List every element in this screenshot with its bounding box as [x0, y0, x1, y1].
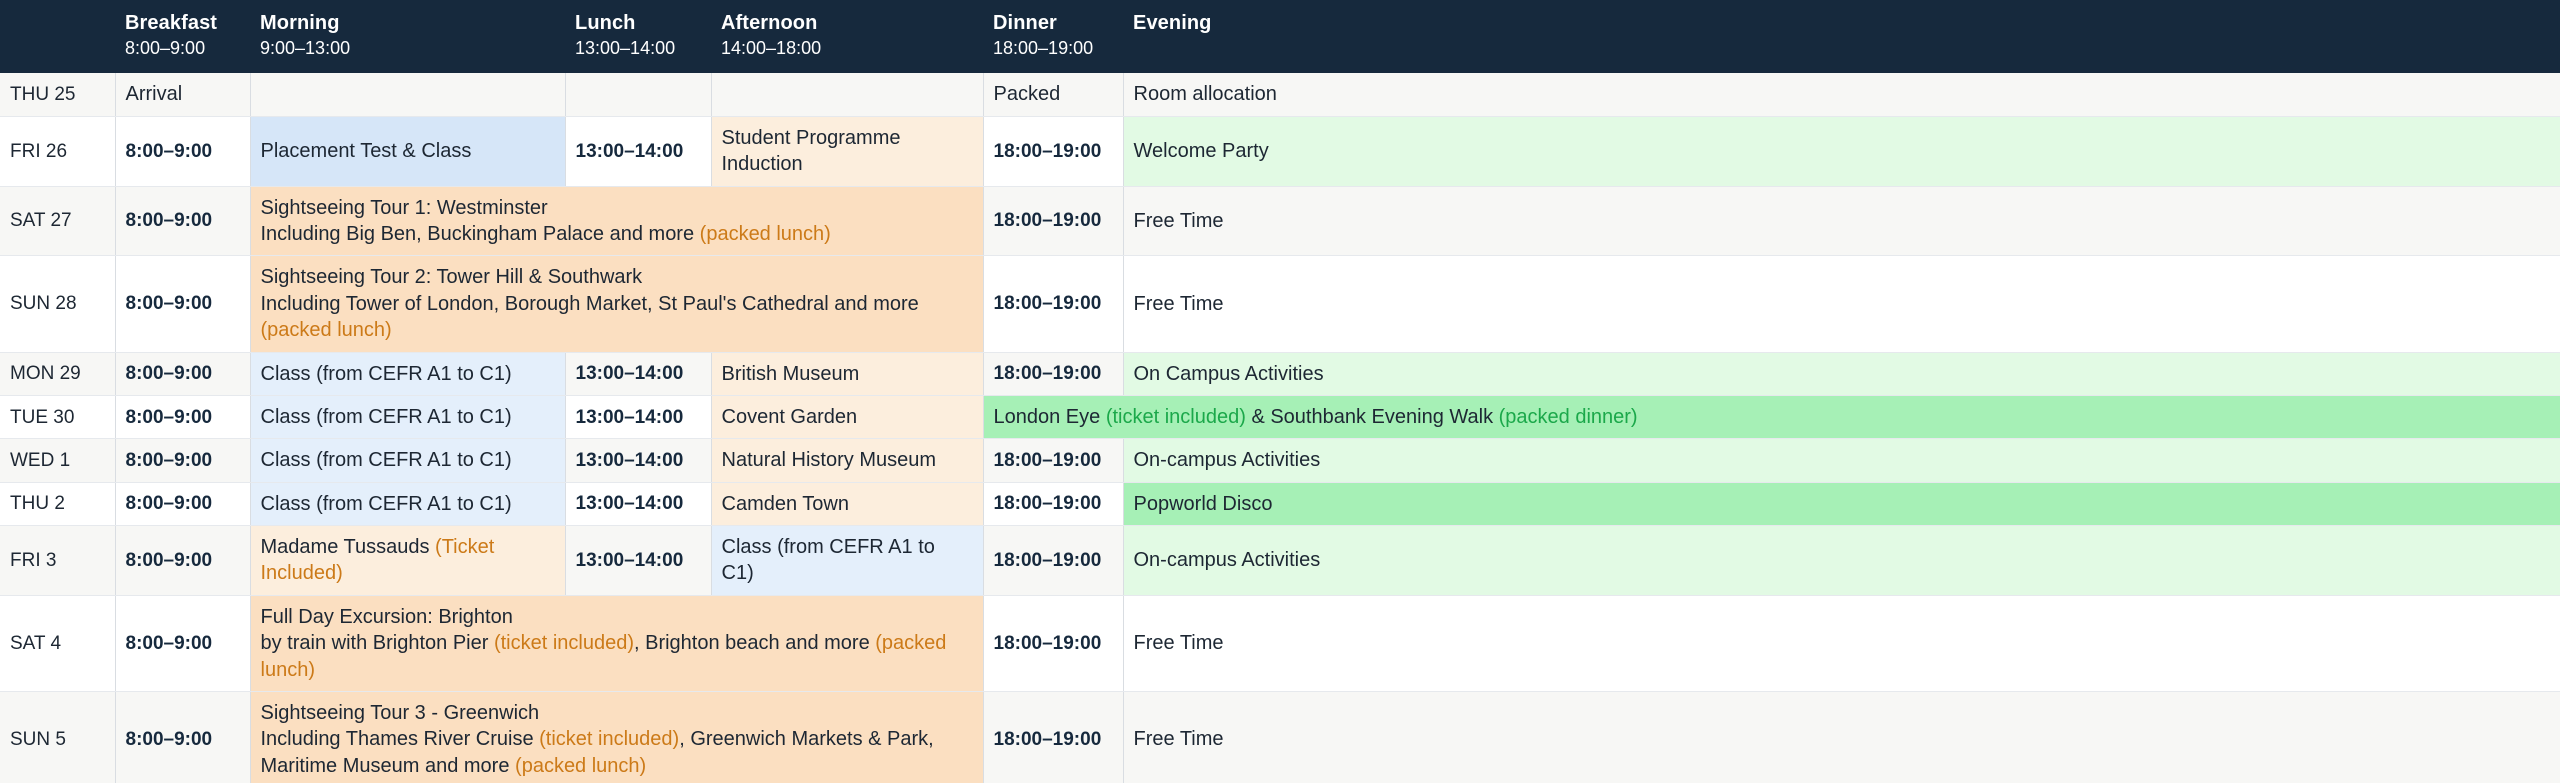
header-morning: Morning 9:00–13:00 — [250, 0, 565, 73]
table-row: SUN 28 8:00–9:00 Sightseeing Tour 2: Tow… — [0, 256, 2560, 352]
cell-breakfast: 8:00–9:00 — [115, 395, 250, 438]
table-body: THU 25 Arrival Packed Room allocation FR… — [0, 73, 2560, 783]
cell-breakfast: 8:00–9:00 — [115, 256, 250, 352]
cell-morning: Class (from CEFR A1 to C1) — [250, 439, 565, 482]
header-afternoon-label: Afternoon — [721, 12, 975, 35]
cell-afternoon: Student Programme Induction — [711, 116, 983, 186]
header-row: Breakfast 8:00–9:00 Morning 9:00–13:00 L… — [0, 0, 2560, 73]
cell-evening: On Campus Activities — [1123, 352, 2560, 395]
header-day-column — [0, 0, 115, 73]
evening-note-2: (packed dinner) — [1499, 406, 1638, 428]
cell-dinner: Packed — [983, 73, 1123, 116]
cell-dinner: 18:00–19:00 — [983, 439, 1123, 482]
cell-evening: Free Time — [1123, 256, 2560, 352]
cell-lunch — [565, 73, 711, 116]
cell-breakfast: 8:00–9:00 — [115, 439, 250, 482]
row-day: THU 2 — [0, 482, 115, 525]
cell-breakfast: 8:00–9:00 — [115, 116, 250, 186]
cell-lunch: 13:00–14:00 — [565, 482, 711, 525]
cell-breakfast: Arrival — [115, 73, 250, 116]
cell-morning — [250, 73, 565, 116]
tour-detail: by train with Brighton Pier (ticket incl… — [261, 630, 973, 683]
cell-evening: Free Time — [1123, 186, 2560, 256]
table-row: FRI 3 8:00–9:00 Madame Tussauds (Ticket … — [0, 526, 2560, 596]
cell-morning: Class (from CEFR A1 to C1) — [250, 482, 565, 525]
cell-full-day-tour: Sightseeing Tour 2: Tower Hill & Southwa… — [250, 256, 983, 352]
tour-title: Sightseeing Tour 3 - Greenwich — [261, 700, 973, 726]
header-breakfast: Breakfast 8:00–9:00 — [115, 0, 250, 73]
cell-evening: On-campus Activities — [1123, 439, 2560, 482]
tour-title: Sightseeing Tour 2: Tower Hill & Southwa… — [261, 264, 973, 290]
cell-breakfast: 8:00–9:00 — [115, 526, 250, 596]
cell-lunch: 13:00–14:00 — [565, 526, 711, 596]
cell-dinner: 18:00–19:00 — [983, 352, 1123, 395]
cell-evening: Welcome Party — [1123, 116, 2560, 186]
cell-dinner: 18:00–19:00 — [983, 692, 1123, 783]
tour-detail-text-2: , Brighton beach and more — [634, 632, 875, 654]
cell-breakfast: 8:00–9:00 — [115, 186, 250, 256]
row-day: MON 29 — [0, 352, 115, 395]
cell-afternoon: Covent Garden — [711, 395, 983, 438]
header-dinner: Dinner 18:00–19:00 — [983, 0, 1123, 73]
row-day: WED 1 — [0, 439, 115, 482]
cell-evening: Room allocation — [1123, 73, 2560, 116]
cell-evening: On-campus Activities — [1123, 526, 2560, 596]
evening-text-1: London Eye — [994, 406, 1106, 428]
header-afternoon-time: 14:00–18:00 — [721, 37, 975, 60]
tour-detail: Including Thames River Cruise (ticket in… — [261, 726, 973, 779]
cell-morning: Class (from CEFR A1 to C1) — [250, 395, 565, 438]
row-day: FRI 26 — [0, 116, 115, 186]
row-day: FRI 3 — [0, 526, 115, 596]
cell-breakfast: 8:00–9:00 — [115, 352, 250, 395]
cell-full-day-tour: Sightseeing Tour 1: Westminster Includin… — [250, 186, 983, 256]
cell-evening-excursion: London Eye (ticket included) & Southbank… — [983, 395, 2560, 438]
header-dinner-time: 18:00–19:00 — [993, 37, 1115, 60]
header-lunch-label: Lunch — [575, 12, 703, 35]
programme-schedule-table: Breakfast 8:00–9:00 Morning 9:00–13:00 L… — [0, 0, 2560, 783]
tour-title: Full Day Excursion: Brighton — [261, 604, 973, 630]
cell-dinner: 18:00–19:00 — [983, 256, 1123, 352]
header-evening-label: Evening — [1133, 12, 2552, 35]
cell-breakfast: 8:00–9:00 — [115, 482, 250, 525]
header-lunch-time: 13:00–14:00 — [575, 37, 703, 60]
header-lunch: Lunch 13:00–14:00 — [565, 0, 711, 73]
cell-afternoon: Camden Town — [711, 482, 983, 525]
row-day: SAT 27 — [0, 186, 115, 256]
header-dinner-label: Dinner — [993, 12, 1115, 35]
tour-title: Sightseeing Tour 1: Westminster — [261, 195, 973, 221]
tour-note-1: (ticket included) — [494, 632, 634, 654]
cell-afternoon: Natural History Museum — [711, 439, 983, 482]
cell-lunch: 13:00–14:00 — [565, 439, 711, 482]
header-afternoon: Afternoon 14:00–18:00 — [711, 0, 983, 73]
cell-lunch: 13:00–14:00 — [565, 352, 711, 395]
row-day: SAT 4 — [0, 595, 115, 691]
table-row: FRI 26 8:00–9:00 Placement Test & Class … — [0, 116, 2560, 186]
evening-note-1: (ticket included) — [1106, 406, 1246, 428]
header-breakfast-label: Breakfast — [125, 12, 242, 35]
tour-detail-text-1: Including Thames River Cruise — [261, 728, 540, 750]
cell-full-day-tour: Full Day Excursion: Brighton by train wi… — [250, 595, 983, 691]
cell-lunch: 13:00–14:00 — [565, 116, 711, 186]
cell-evening: Free Time — [1123, 692, 2560, 783]
table-row: WED 1 8:00–9:00 Class (from CEFR A1 to C… — [0, 439, 2560, 482]
cell-dinner: 18:00–19:00 — [983, 186, 1123, 256]
tour-detail: Including Big Ben, Buckingham Palace and… — [261, 221, 973, 247]
table-row: SUN 5 8:00–9:00 Sightseeing Tour 3 - Gre… — [0, 692, 2560, 783]
cell-lunch: 13:00–14:00 — [565, 395, 711, 438]
cell-dinner: 18:00–19:00 — [983, 595, 1123, 691]
row-day: SUN 28 — [0, 256, 115, 352]
table-row: THU 25 Arrival Packed Room allocation — [0, 73, 2560, 116]
row-day: SUN 5 — [0, 692, 115, 783]
table-row: SAT 27 8:00–9:00 Sightseeing Tour 1: Wes… — [0, 186, 2560, 256]
header-evening: Evening — [1123, 0, 2560, 73]
schedule-sheet: Breakfast 8:00–9:00 Morning 9:00–13:00 L… — [0, 0, 2560, 783]
table-row: TUE 30 8:00–9:00 Class (from CEFR A1 to … — [0, 395, 2560, 438]
cell-dinner: 18:00–19:00 — [983, 482, 1123, 525]
header-morning-label: Morning — [260, 12, 557, 35]
tour-note-2: (packed lunch) — [515, 755, 646, 777]
cell-evening: Free Time — [1123, 595, 2560, 691]
cell-breakfast: 8:00–9:00 — [115, 595, 250, 691]
cell-dinner: 18:00–19:00 — [983, 526, 1123, 596]
cell-evening: Popworld Disco — [1123, 482, 2560, 525]
tour-detail: Including Tower of London, Borough Marke… — [261, 291, 973, 344]
row-day: TUE 30 — [0, 395, 115, 438]
table-row: THU 2 8:00–9:00 Class (from CEFR A1 to C… — [0, 482, 2560, 525]
table-row: MON 29 8:00–9:00 Class (from CEFR A1 to … — [0, 352, 2560, 395]
cell-dinner: 18:00–19:00 — [983, 116, 1123, 186]
morning-text: Madame Tussauds — [261, 536, 436, 558]
tour-detail-text-1: by train with Brighton Pier — [261, 632, 494, 654]
table-row: SAT 4 8:00–9:00 Full Day Excursion: Brig… — [0, 595, 2560, 691]
tour-detail-text: Including Tower of London, Borough Marke… — [261, 293, 919, 315]
cell-full-day-tour: Sightseeing Tour 3 - Greenwich Including… — [250, 692, 983, 783]
table-header: Breakfast 8:00–9:00 Morning 9:00–13:00 L… — [0, 0, 2560, 73]
header-morning-time: 9:00–13:00 — [260, 37, 557, 60]
cell-afternoon — [711, 73, 983, 116]
cell-afternoon: Class (from CEFR A1 to C1) — [711, 526, 983, 596]
tour-detail-text: Including Big Ben, Buckingham Palace and… — [261, 223, 700, 245]
row-day: THU 25 — [0, 73, 115, 116]
cell-morning: Placement Test & Class — [250, 116, 565, 186]
cell-morning: Madame Tussauds (Ticket Included) — [250, 526, 565, 596]
tour-note: (packed lunch) — [261, 319, 392, 341]
cell-morning: Class (from CEFR A1 to C1) — [250, 352, 565, 395]
tour-note-1: (ticket included) — [539, 728, 679, 750]
tour-note: (packed lunch) — [700, 223, 831, 245]
cell-afternoon: British Museum — [711, 352, 983, 395]
evening-text-2: & Southbank Evening Walk — [1246, 406, 1499, 428]
cell-breakfast: 8:00–9:00 — [115, 692, 250, 783]
header-breakfast-time: 8:00–9:00 — [125, 37, 242, 60]
